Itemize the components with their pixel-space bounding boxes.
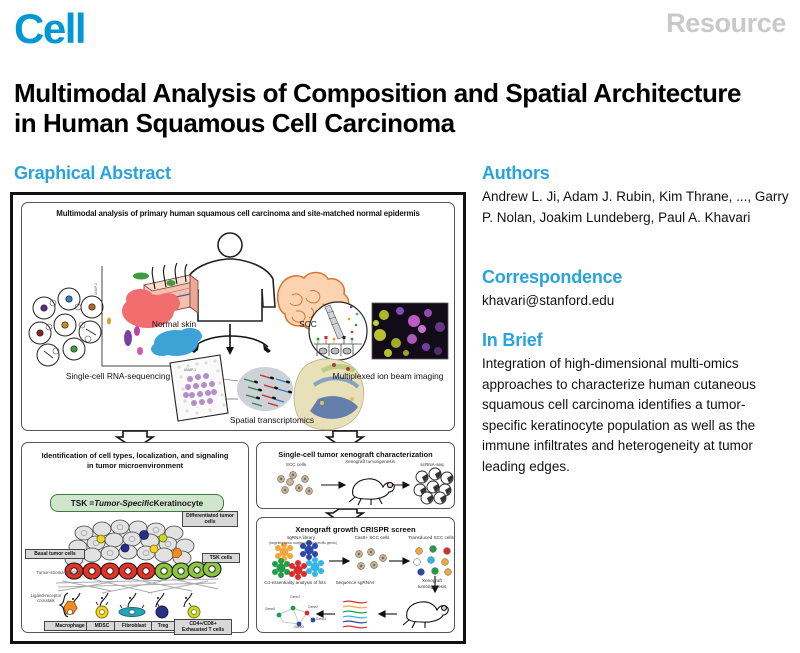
tumor-microenvironment-artwork — [22, 443, 250, 634]
label-spatial-transcriptomics: Spatial transcriptomics — [192, 415, 352, 425]
xenograft-characterization-artwork — [257, 443, 456, 510]
label-single-cell-rna-seq: Single-cell RNA-sequencing — [28, 371, 208, 381]
label-sequence-sgrnas: Sequence sgRNAs — [331, 580, 379, 586]
label-sgrna-library: sgRNA library — [265, 535, 337, 541]
legend-cell-icons — [64, 601, 200, 618]
arrowheads — [191, 344, 271, 355]
in-brief-heading: In Brief — [482, 330, 542, 351]
in-brief-text: Integration of high-dimensional multi-om… — [482, 354, 782, 477]
gene-node-label-3: Gene3 — [287, 626, 311, 630]
article-type-label: Resource — [666, 8, 786, 39]
mibi-image — [372, 303, 448, 359]
tag-basal-tumor-cells: Basal tumor cells — [25, 549, 85, 559]
stroma-fibers — [56, 579, 218, 593]
tag-tsk-cells: TSK cells — [202, 553, 240, 563]
mouse-icon — [349, 479, 394, 505]
mouse-icon-crispr — [403, 602, 448, 628]
legend-exhausted-t-cells: CD4+/CD8+ Exhausted T cells — [174, 619, 232, 635]
transduced-scc-cells — [414, 546, 452, 576]
label-scc: SCC — [278, 319, 338, 329]
differentiated-tumor-cells — [65, 520, 194, 566]
label-scc-cells: SCC cells — [267, 462, 325, 468]
panel-crispr-screen: Xenograft growth CRISPR screen — [256, 517, 455, 633]
scc-cells-dots — [278, 472, 313, 495]
label-xenograft-tumorigenesis: Xenograft tumorigenesis — [341, 459, 399, 465]
gene-node-label-1: Gene1 — [283, 596, 307, 600]
single-cell-icons — [29, 288, 103, 366]
cell-journal-logo: Cell — [14, 8, 85, 50]
label-coessentiality-analysis: Co-essentiality analysis of hits — [263, 580, 327, 586]
correspondence-email[interactable]: khavari@stanford.edu — [482, 291, 792, 312]
correspondence-heading: Correspondence — [482, 267, 622, 288]
panel-tumor-microenvironment: Identification of cell types, localizati… — [21, 442, 249, 633]
gene-node-label-2: Gene2 — [301, 606, 325, 610]
tag-differentiated-tumor-cells: Differentiated tumor cells — [182, 511, 238, 527]
human-torso-icon — [185, 233, 275, 321]
graphical-abstract-heading: Graphical Abstract — [14, 163, 171, 184]
panel-top-artwork — [22, 203, 456, 432]
label-normal-skin: Normal skin — [134, 319, 214, 329]
label-xenograft-tumorigenesis-crispr: Xenograft tumorigenesis — [409, 578, 455, 589]
sequence-sgrna-reads — [343, 601, 367, 628]
graphical-abstract-figure: Multimodal analysis of primary human squ… — [10, 192, 466, 644]
legend-fibroblast: Fibroblast — [114, 621, 154, 631]
label-ligand-receptor-crosstalk: Ligand-receptor crosstalk — [24, 593, 68, 604]
label-cas9-cells: Cas9+ SCC cells — [347, 535, 397, 541]
label-sgrna-library-sub: (targeting tumor subpopulation-specific … — [257, 542, 349, 546]
label-transduced-cells: Transduced SCC cells — [407, 535, 455, 541]
umap-y-axis-label: UMAP-2 — [94, 283, 98, 295]
umap-x-axis-label: UMAP-1 — [184, 368, 196, 372]
page-title: Multimodal Analysis of Composition and S… — [14, 78, 754, 138]
label-tumor-stroma-interface: Tumor-stroma interface — [36, 570, 82, 575]
gene-node-label-4: Gene4 — [309, 618, 333, 622]
gene-node-label-5: Gene5 — [259, 608, 281, 612]
panel-multimodal-analysis: Multimodal analysis of primary human squ… — [21, 202, 455, 431]
mibi-ion-beam-icon — [309, 302, 367, 360]
legend-treg: Treg — [151, 621, 175, 631]
authors-list: Andrew L. Ji, Adam J. Rubin, Kim Thrane,… — [482, 187, 792, 228]
label-mibi: Multiplexed ion beam imaging — [318, 371, 458, 381]
panel-xenograft-characterization: Single-cell tumor xenograft characteriza… — [256, 442, 455, 509]
label-scrnaseq: scRNA-seq — [409, 462, 455, 468]
paper-cover-page: Cell Resource Multimodal Analysis of Com… — [0, 0, 800, 653]
sgrna-library-icons — [272, 540, 324, 580]
authors-heading: Authors — [482, 163, 550, 184]
scrnaseq-cells — [414, 468, 453, 504]
cas9-scc-cells — [356, 549, 387, 570]
signal-dots — [72, 597, 187, 600]
